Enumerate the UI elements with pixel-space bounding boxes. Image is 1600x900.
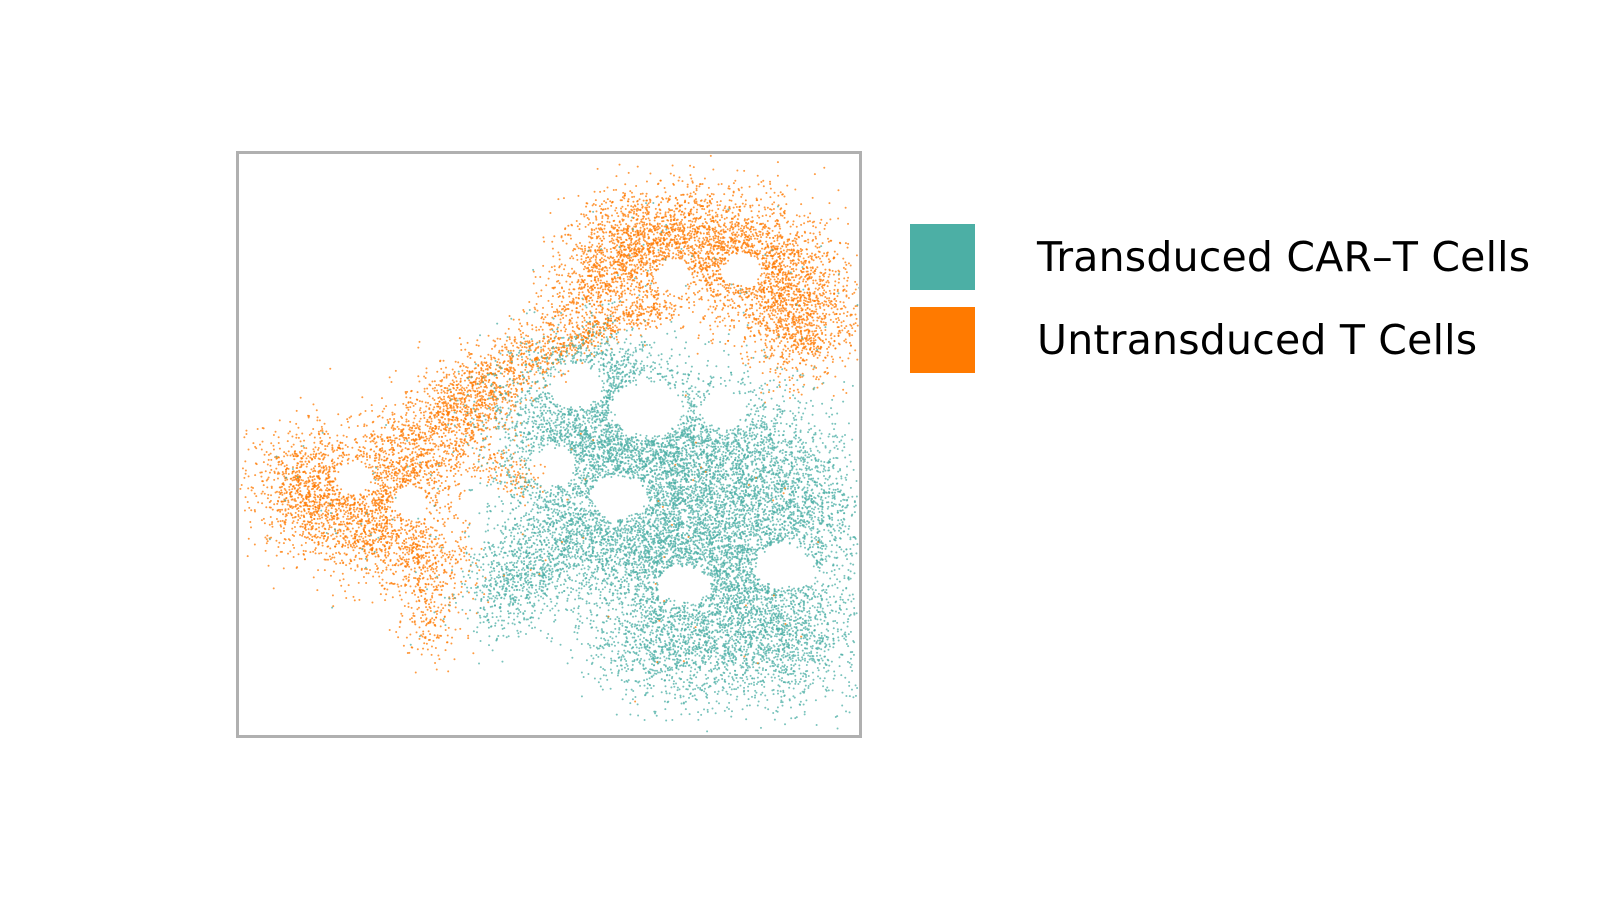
legend: Transduced CAR–T Cells Untransduced T Ce… [910, 224, 1530, 390]
legend-swatch-untransduced-icon [910, 307, 975, 373]
legend-item-untransduced[interactable]: Untransduced T Cells [910, 307, 1530, 373]
legend-swatch-transduced-icon [910, 224, 975, 290]
umap-scatter-canvas[interactable] [239, 154, 859, 735]
legend-label-untransduced: Untransduced T Cells [1037, 320, 1477, 361]
figure-root: Transduced CAR–T Cells Untransduced T Ce… [0, 0, 1600, 900]
scatter-plot-panel[interactable] [236, 151, 862, 738]
legend-item-transduced[interactable]: Transduced CAR–T Cells [910, 224, 1530, 290]
legend-label-transduced: Transduced CAR–T Cells [1037, 237, 1530, 278]
